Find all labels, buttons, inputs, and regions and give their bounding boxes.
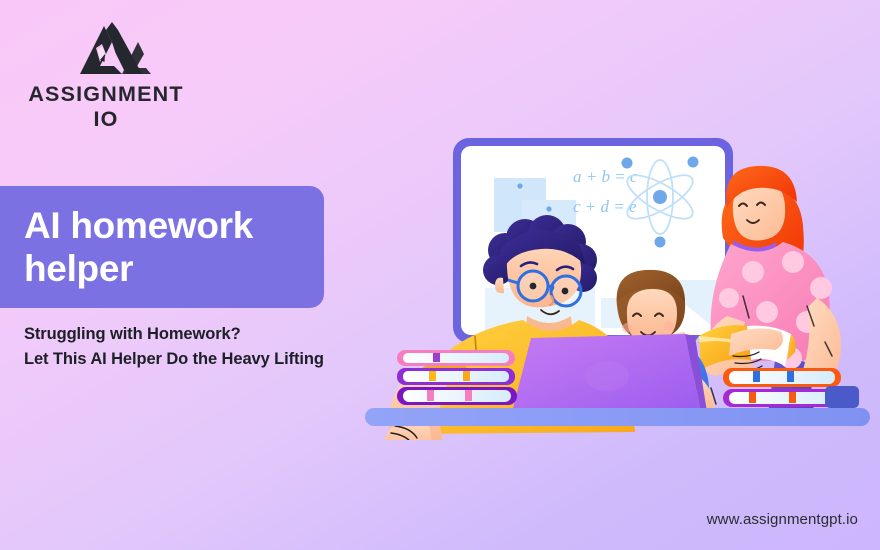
brand-wordmark: ASSIGNMENT IO bbox=[18, 82, 194, 132]
book-stack-left bbox=[397, 350, 517, 405]
brand-logo[interactable]: ASSIGNMENT IO bbox=[18, 20, 238, 132]
hero-illustration: a + b = c c + d = e bbox=[355, 120, 880, 440]
site-url[interactable]: www.assignmentgpt.io bbox=[707, 511, 858, 528]
desk-surface bbox=[365, 408, 870, 426]
students-studying-illustration: a + b = c c + d = e bbox=[355, 120, 880, 440]
headline-line-1: AI homework bbox=[24, 204, 324, 247]
book-item bbox=[397, 368, 515, 385]
headline-banner: AI homework helper bbox=[0, 186, 324, 308]
book-item bbox=[723, 368, 841, 387]
assignment-a-pencil-logo-icon bbox=[18, 20, 238, 78]
book-item bbox=[397, 350, 515, 366]
headline-line-2: helper bbox=[24, 247, 324, 290]
book-item bbox=[397, 387, 517, 405]
